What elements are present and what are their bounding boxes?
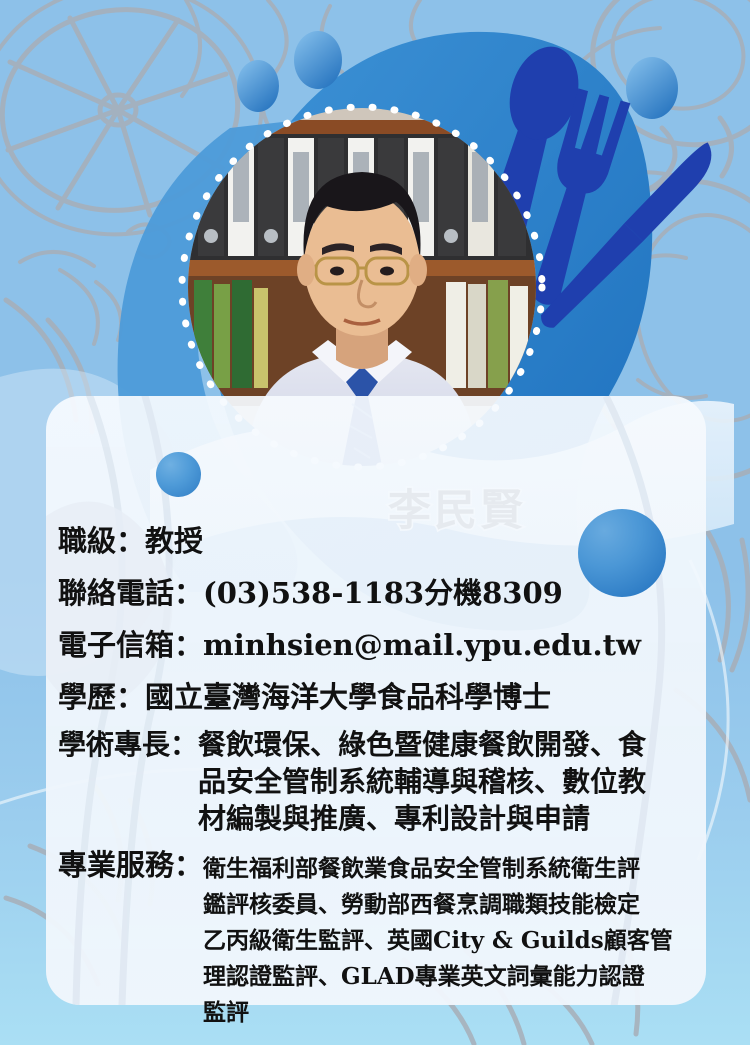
services-line-5: 監評 <box>203 995 673 1031</box>
field-rank-label: 職級： <box>58 516 145 566</box>
services-line-1: 衛生福利部餐飲業食品安全管制系統衛生評 <box>203 851 673 887</box>
services-line-2: 鑑評核委員、勞動部西餐烹調職類技能檢定 <box>203 887 673 923</box>
expertise-line-1: 餐飲環保、綠色暨健康餐飲開發、食 <box>198 726 646 763</box>
field-email-value: minhsien@mail.ypu.edu.tw <box>203 620 641 670</box>
field-rank: 職級： 教授 <box>58 516 698 566</box>
expertise-line-2: 品安全管制系統輔導與稽核、數位教 <box>198 763 646 800</box>
field-education-value: 國立臺灣海洋大學食品科學博士 <box>145 672 551 722</box>
field-services-label: 專業服務： <box>58 847 203 883</box>
field-services-value: 衛生福利部餐飲業食品安全管制系統衛生評 鑑評核委員、勞動部西餐烹調職類技能檢定 … <box>203 851 673 1031</box>
field-phone-label: 聯絡電話： <box>58 568 203 618</box>
services-line-4: 理認證監評、GLAD專業英文詞彙能力認證 <box>203 959 673 995</box>
field-expertise-value: 餐飲環保、綠色暨健康餐飲開發、食 品安全管制系統輔導與稽核、數位教 材編製與推廣… <box>198 726 646 837</box>
info-lines: 職級： 教授 聯絡電話： (03)538-1183分機8309 電子信箱： mi… <box>58 516 698 1027</box>
services-line-3: 乙丙級衛生監評、英國City & Guilds顧客管 <box>203 923 673 959</box>
field-education: 學歷： 國立臺灣海洋大學食品科學博士 <box>58 672 698 722</box>
field-expertise-label: 學術專長： <box>58 726 198 763</box>
field-education-label: 學歷： <box>58 672 145 722</box>
decor-circle-small <box>156 452 201 497</box>
field-phone: 聯絡電話： (03)538-1183分機8309 <box>58 568 698 618</box>
field-email-label: 電子信箱： <box>58 620 203 670</box>
field-phone-value: (03)538-1183分機8309 <box>203 568 563 618</box>
profile-poster: 李民賢 職級： 教授 聯絡電話： (03)538-1183分機8309 電子信箱… <box>0 0 750 1045</box>
field-expertise: 學術專長： 餐飲環保、綠色暨健康餐飲開發、食 品安全管制系統輔導與稽核、數位教 … <box>58 726 698 837</box>
expertise-line-3: 材編製與推廣、專利設計與申請 <box>198 800 646 837</box>
field-email: 電子信箱： minhsien@mail.ypu.edu.tw <box>58 620 698 670</box>
field-services: 專業服務： 衛生福利部餐飲業食品安全管制系統衛生評 鑑評核委員、勞動部西餐烹調職… <box>58 847 698 1027</box>
field-rank-value: 教授 <box>145 516 203 566</box>
